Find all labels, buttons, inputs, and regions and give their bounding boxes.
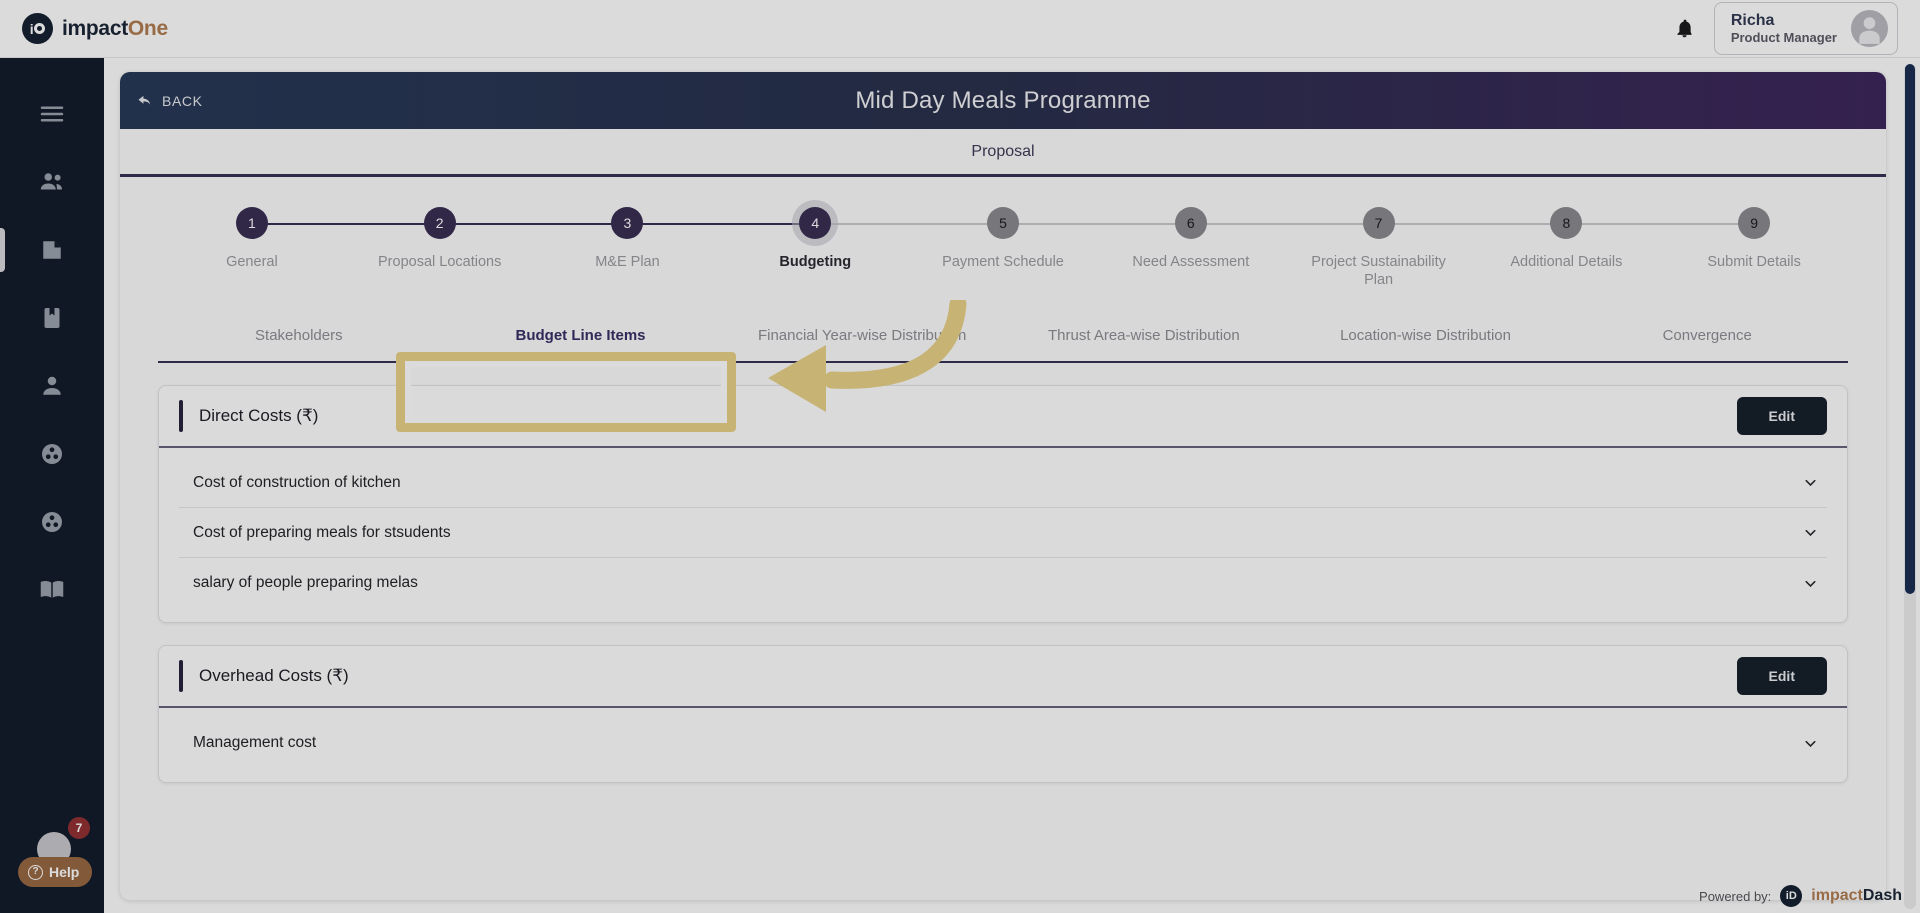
stepper-bubble: 3 — [611, 207, 643, 239]
chevron-down-icon[interactable] — [1802, 524, 1819, 541]
chevron-down-icon[interactable] — [1802, 474, 1819, 491]
stepper-step-2[interactable]: 2Proposal Locations — [346, 207, 534, 289]
user-info: Richa Product Manager — [1731, 11, 1837, 46]
stepper-step-3[interactable]: 3M&E Plan — [534, 207, 722, 289]
sidebar-item-users[interactable] — [0, 352, 104, 420]
sidebar-item-menu[interactable] — [0, 80, 104, 148]
cost-line-item-list: Cost of construction of kitchenCost of p… — [159, 448, 1847, 622]
stepper-step-1[interactable]: 1General — [158, 207, 346, 289]
help-widget[interactable]: 7 ? Help — [20, 821, 88, 889]
cost-line-item-list: Management cost — [159, 708, 1847, 782]
top-bar: i impactOne Richa Product Manager — [0, 0, 1920, 58]
cost-section-title: Overhead Costs (₹) — [199, 666, 349, 686]
subtab-label: Thrust Area-wise Distribution — [1048, 327, 1240, 344]
cost-section-card: Direct Costs (₹)EditCost of construction… — [158, 385, 1848, 623]
footer: Powered by: iD impactDash — [1699, 885, 1902, 907]
footer-impact-text: impact — [1811, 887, 1863, 904]
stepper-label: Proposal Locations — [378, 253, 501, 271]
stepper-step-8[interactable]: 8Additional Details — [1472, 207, 1660, 289]
user-name: Richa — [1731, 11, 1837, 31]
stepper-step-9[interactable]: 9Submit Details — [1660, 207, 1848, 289]
scrollbar-thumb[interactable] — [1905, 64, 1915, 594]
stepper-bubble: 7 — [1363, 207, 1395, 239]
stepper-label: M&E Plan — [595, 253, 659, 271]
subtab-convergence[interactable]: Convergence — [1566, 309, 1848, 361]
user-profile-chip[interactable]: Richa Product Manager — [1714, 2, 1898, 55]
main-content: BACK Mid Day Meals Programme Proposal 1G… — [120, 72, 1886, 900]
page-card: BACK Mid Day Meals Programme Proposal 1G… — [120, 72, 1886, 900]
brand-logo[interactable]: i impactOne — [22, 13, 168, 44]
progress-stepper: 1General2Proposal Locations3M&E Plan4Bud… — [158, 207, 1848, 303]
stepper-step-5[interactable]: 5Payment Schedule — [909, 207, 1097, 289]
cost-line-item-label: Cost of construction of kitchen — [193, 474, 401, 492]
stepper-label: Payment Schedule — [942, 253, 1064, 271]
stepper-label: Budgeting — [779, 253, 851, 271]
sidebar-item-partners[interactable] — [0, 488, 104, 556]
powered-by-label: Powered by: — [1699, 889, 1771, 904]
sidebar-item-proposals[interactable] — [0, 216, 104, 284]
stepper-bubble: 6 — [1175, 207, 1207, 239]
sidebar-item-organisations[interactable] — [0, 148, 104, 216]
cost-line-item-row[interactable]: Cost of construction of kitchen — [179, 458, 1827, 508]
stepper-label: Additional Details — [1510, 253, 1622, 271]
subtab-label: Location-wise Distribution — [1340, 327, 1511, 344]
impactdash-wordmark: impactDash — [1811, 887, 1902, 905]
cost-line-item-label: salary of people preparing melas — [193, 574, 418, 592]
brand-impact-text: impact — [62, 17, 128, 40]
question-mark-icon: ? — [28, 865, 43, 880]
page-scrollbar[interactable] — [1904, 64, 1916, 909]
avatar — [1851, 10, 1888, 47]
cost-section-card: Overhead Costs (₹)EditManagement cost — [158, 645, 1848, 783]
stepper-bubble: 1 — [236, 207, 268, 239]
stepper-step-4[interactable]: 4Budgeting — [721, 207, 909, 289]
brand-wordmark: impactOne — [62, 17, 168, 41]
subtab-location-wise-distribution[interactable]: Location-wise Distribution — [1285, 309, 1567, 361]
sidebar-item-programmes[interactable] — [0, 420, 104, 488]
cost-section-header: Direct Costs (₹)Edit — [159, 386, 1847, 448]
stepper-step-6[interactable]: 6Need Assessment — [1097, 207, 1285, 289]
subtab-thrust-area-wise-distribution[interactable]: Thrust Area-wise Distribution — [1003, 309, 1285, 361]
subtab-label: Stakeholders — [255, 327, 343, 344]
help-label: Help — [49, 864, 79, 880]
help-button[interactable]: ? Help — [18, 857, 92, 887]
stepper-label: Project Sustainability Plan — [1304, 253, 1454, 289]
subtab-label: Budget Line Items — [516, 327, 646, 344]
subtab-budget-line-items[interactable]: Budget Line Items — [440, 309, 722, 361]
stepper-label: Submit Details — [1707, 253, 1800, 271]
impactdash-logo-icon: iD — [1780, 885, 1802, 907]
stepper-bubble: 4 — [799, 207, 831, 239]
cost-section-header: Overhead Costs (₹)Edit — [159, 646, 1847, 708]
subtab-stakeholders[interactable]: Stakeholders — [158, 309, 440, 361]
chevron-down-icon[interactable] — [1802, 735, 1819, 752]
stepper-bubble: 9 — [1738, 207, 1770, 239]
impactone-logo-icon: i — [22, 13, 53, 44]
help-badge-count: 7 — [68, 817, 90, 839]
section-accent-bar — [179, 660, 183, 692]
chevron-down-icon[interactable] — [1802, 575, 1819, 592]
stepper-label: Need Assessment — [1132, 253, 1249, 271]
section-accent-bar — [179, 400, 183, 432]
page-title: Mid Day Meals Programme — [120, 87, 1886, 115]
stepper-bubble: 5 — [987, 207, 1019, 239]
brand-one-text: One — [128, 17, 168, 40]
proposal-tab-row: Proposal — [120, 129, 1886, 177]
edit-button[interactable]: Edit — [1737, 657, 1827, 695]
subtab-financial-year-wise-distribution[interactable]: Financial Year-wise Distribution — [721, 309, 1003, 361]
user-role: Product Manager — [1731, 30, 1837, 46]
stepper-bubble: 2 — [424, 207, 456, 239]
cost-section-title: Direct Costs (₹) — [199, 406, 318, 426]
edit-button[interactable]: Edit — [1737, 397, 1827, 435]
stepper-bubble: 8 — [1550, 207, 1582, 239]
subtab-label: Convergence — [1663, 327, 1752, 344]
top-bar-right: Richa Product Manager — [1672, 2, 1898, 55]
sidebar-item-reports[interactable] — [0, 556, 104, 624]
tab-proposal[interactable]: Proposal — [971, 143, 1034, 161]
cost-sections: Direct Costs (₹)EditCost of construction… — [158, 385, 1848, 783]
cost-line-item-label: Management cost — [193, 734, 316, 752]
stepper-step-7[interactable]: 7Project Sustainability Plan — [1285, 207, 1473, 289]
cost-line-item-row[interactable]: Cost of preparing meals for stsudents — [179, 508, 1827, 558]
page-banner: BACK Mid Day Meals Programme — [120, 72, 1886, 129]
stepper-label: General — [226, 253, 278, 271]
footer-dash-text: Dash — [1863, 887, 1902, 904]
app-root: i impactOne Richa Product Manager — [0, 0, 1920, 913]
notification-bell-icon[interactable] — [1672, 16, 1698, 42]
cost-line-item-row[interactable]: Management cost — [179, 718, 1827, 768]
cost-line-item-label: Cost of preparing meals for stsudents — [193, 524, 451, 542]
sidebar: 7 ? Help — [0, 58, 104, 913]
subtab-label: Financial Year-wise Distribution — [758, 327, 966, 344]
cost-line-item-row[interactable]: salary of people preparing melas — [179, 558, 1827, 608]
budget-subtabs: StakeholdersBudget Line ItemsFinancial Y… — [158, 309, 1848, 363]
sidebar-item-projects[interactable] — [0, 284, 104, 352]
